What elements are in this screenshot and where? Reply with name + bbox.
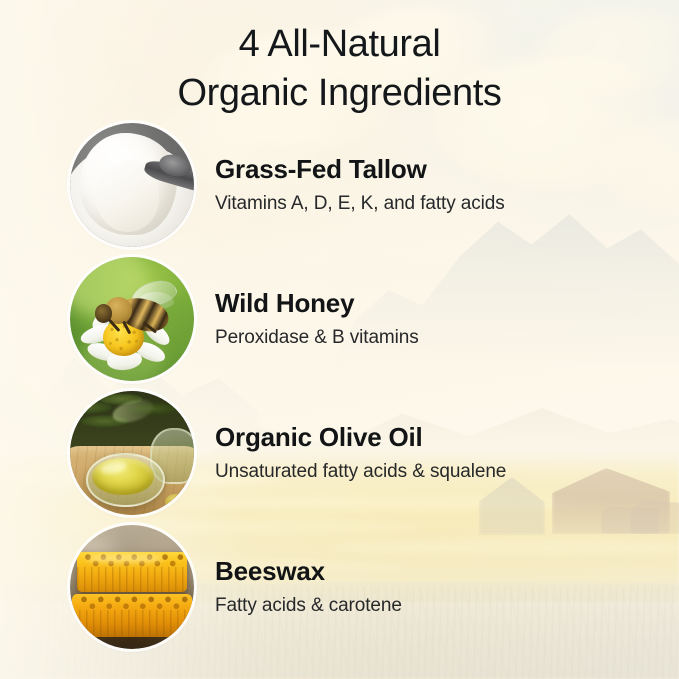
ingredient-name: Organic Olive Oil bbox=[215, 422, 506, 453]
beeswax-honeycomb-photo bbox=[70, 525, 194, 649]
organic-olive-oil-photo bbox=[70, 391, 194, 515]
ingredient-name: Beeswax bbox=[215, 556, 402, 587]
ingredient-text-block: Organic Olive Oil Unsaturated fatty acid… bbox=[215, 422, 506, 484]
grass-fed-tallow-photo bbox=[70, 123, 194, 247]
list-item-beeswax: Beeswax Fatty acids & carotene bbox=[0, 520, 679, 654]
honeycomb-gloss bbox=[86, 554, 162, 563]
ingredient-benefits: Unsaturated fatty acids & squalene bbox=[215, 459, 506, 484]
ingredient-name: Grass-Fed Tallow bbox=[215, 154, 505, 185]
ingredient-benefits: Fatty acids & carotene bbox=[215, 593, 402, 618]
ingredient-benefits: Vitamins A, D, E, K, and fatty acids bbox=[215, 191, 505, 216]
olive-fruit bbox=[165, 494, 186, 510]
honeycomb-slab-upper bbox=[77, 552, 186, 592]
wild-honey-bee-photo bbox=[70, 257, 194, 381]
page-title-line-2: Organic Ingredients bbox=[0, 69, 679, 118]
honeycomb-ribs bbox=[77, 567, 186, 592]
poster-content: 4 All-Natural Organic Ingredients bbox=[0, 0, 679, 679]
ingredient-text-block: Grass-Fed Tallow Vitamins A, D, E, K, an… bbox=[215, 154, 505, 216]
list-item-grass-fed-tallow: Grass-Fed Tallow Vitamins A, D, E, K, an… bbox=[0, 118, 679, 252]
list-item-wild-honey: Wild Honey Peroxidase & B vitamins bbox=[0, 252, 679, 386]
page-title-line-1: 4 All-Natural bbox=[0, 20, 679, 69]
honeycomb-ribs bbox=[72, 610, 191, 636]
ingredient-text-block: Beeswax Fatty acids & carotene bbox=[215, 556, 402, 618]
honeycomb-slab-lower bbox=[72, 594, 191, 636]
ingredient-benefits: Peroxidase & B vitamins bbox=[215, 325, 419, 350]
page-title: 4 All-Natural Organic Ingredients bbox=[0, 20, 679, 118]
ingredient-list: Grass-Fed Tallow Vitamins A, D, E, K, an… bbox=[0, 118, 679, 654]
ingredient-name: Wild Honey bbox=[215, 288, 419, 319]
list-item-organic-olive-oil: Organic Olive Oil Unsaturated fatty acid… bbox=[0, 386, 679, 520]
ingredients-infographic: 4 All-Natural Organic Ingredients bbox=[0, 0, 679, 679]
ingredient-text-block: Wild Honey Peroxidase & B vitamins bbox=[215, 288, 419, 350]
